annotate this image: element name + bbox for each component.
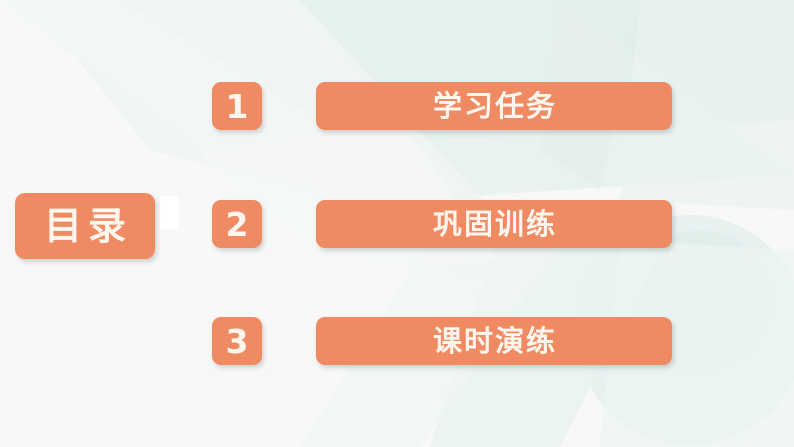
- agenda-number-badge-1[interactable]: 1: [212, 82, 262, 130]
- agenda-number-2: 2: [226, 208, 249, 241]
- agenda-number-badge-3[interactable]: 3: [212, 317, 262, 365]
- agenda-number-1: 1: [226, 90, 249, 123]
- agenda-title-pill-1[interactable]: 学习任务: [316, 82, 672, 130]
- agenda-number-badge-2[interactable]: 2: [212, 200, 262, 248]
- agenda-item-2[interactable]: 2 巩固训练: [212, 200, 672, 248]
- slide-canvas: 目录 1 学习任务 2 巩固训练 3 课时演练: [0, 0, 794, 447]
- agenda-title-2: 巩固训练: [431, 210, 557, 239]
- agenda-list: 1 学习任务 2 巩固训练 3 课时演练: [0, 0, 794, 447]
- agenda-item-1[interactable]: 1 学习任务: [212, 82, 672, 130]
- agenda-title-pill-3[interactable]: 课时演练: [316, 317, 672, 365]
- agenda-number-3: 3: [226, 325, 249, 358]
- agenda-title-3: 课时演练: [431, 327, 557, 356]
- agenda-item-3[interactable]: 3 课时演练: [212, 317, 672, 365]
- agenda-title-1: 学习任务: [431, 92, 557, 121]
- agenda-title-pill-2[interactable]: 巩固训练: [316, 200, 672, 248]
